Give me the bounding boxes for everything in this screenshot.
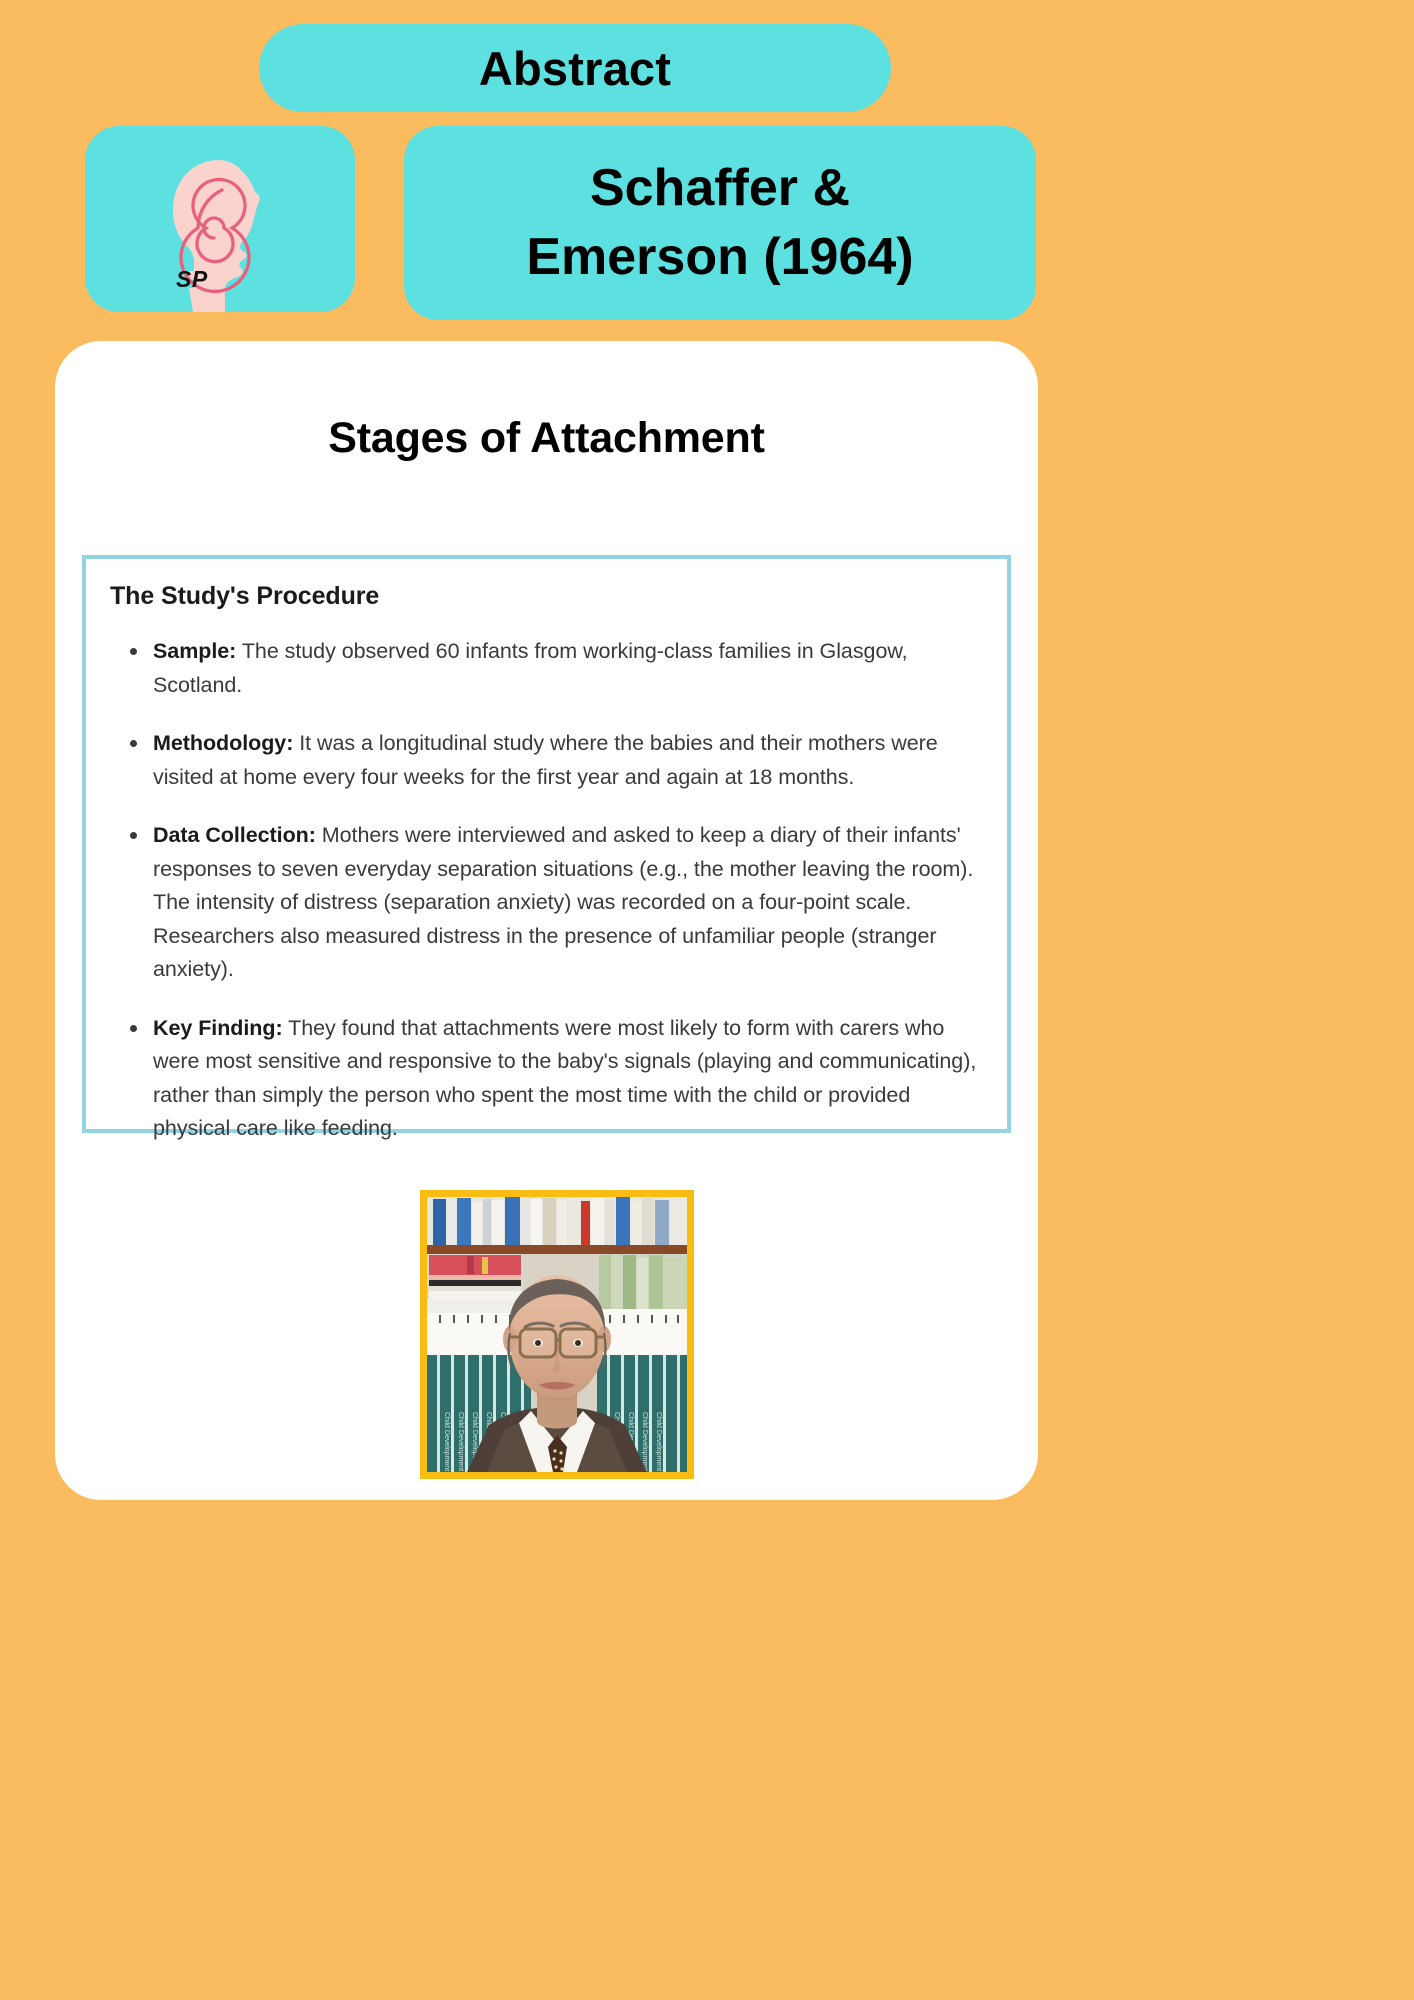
procedure-box: The Study's Procedure Sample: The study … — [82, 555, 1011, 1133]
logo-wrap: SP — [165, 156, 275, 312]
procedure-heading: The Study's Procedure — [110, 582, 977, 611]
bullet-term: Key Finding: — [153, 1016, 283, 1040]
svg-text:Child Development: Child Development — [457, 1412, 464, 1471]
researcher-portrait-photo: Child Development Child Development Chil… — [420, 1190, 694, 1479]
bullet-term: Methodology: — [153, 731, 293, 755]
svg-text:Child Development: Child Development — [443, 1412, 450, 1471]
study-title-line-2: Emerson (1964) — [526, 223, 913, 292]
content-card: Stages of Attachment The Study's Procedu… — [55, 341, 1038, 1500]
logo-monogram: SP — [176, 266, 208, 293]
study-title-line-1: Schaffer & — [590, 154, 850, 223]
logo-card: SP — [85, 126, 355, 312]
bullet-text: The study observed 60 infants from worki… — [153, 639, 908, 697]
bullet-term: Sample: — [153, 639, 236, 663]
svg-text:Child Development: Child Development — [655, 1412, 662, 1471]
procedure-bullet-list: Sample: The study observed 60 infants fr… — [110, 635, 977, 1146]
portrait-image: Child Development Child Development Chil… — [427, 1197, 687, 1472]
abstract-label: Abstract — [479, 41, 671, 96]
list-item: Sample: The study observed 60 infants fr… — [110, 635, 977, 702]
abstract-banner: Abstract — [259, 24, 891, 112]
list-item: Key Finding: They found that attachments… — [110, 1012, 977, 1146]
list-item: Data Collection: Mothers were interviewe… — [110, 819, 977, 987]
list-item: Methodology: It was a longitudinal study… — [110, 727, 977, 794]
page-title: Stages of Attachment — [55, 414, 1038, 463]
bullet-term: Data Collection: — [153, 823, 316, 847]
study-title-card: Schaffer & Emerson (1964) — [404, 126, 1036, 320]
